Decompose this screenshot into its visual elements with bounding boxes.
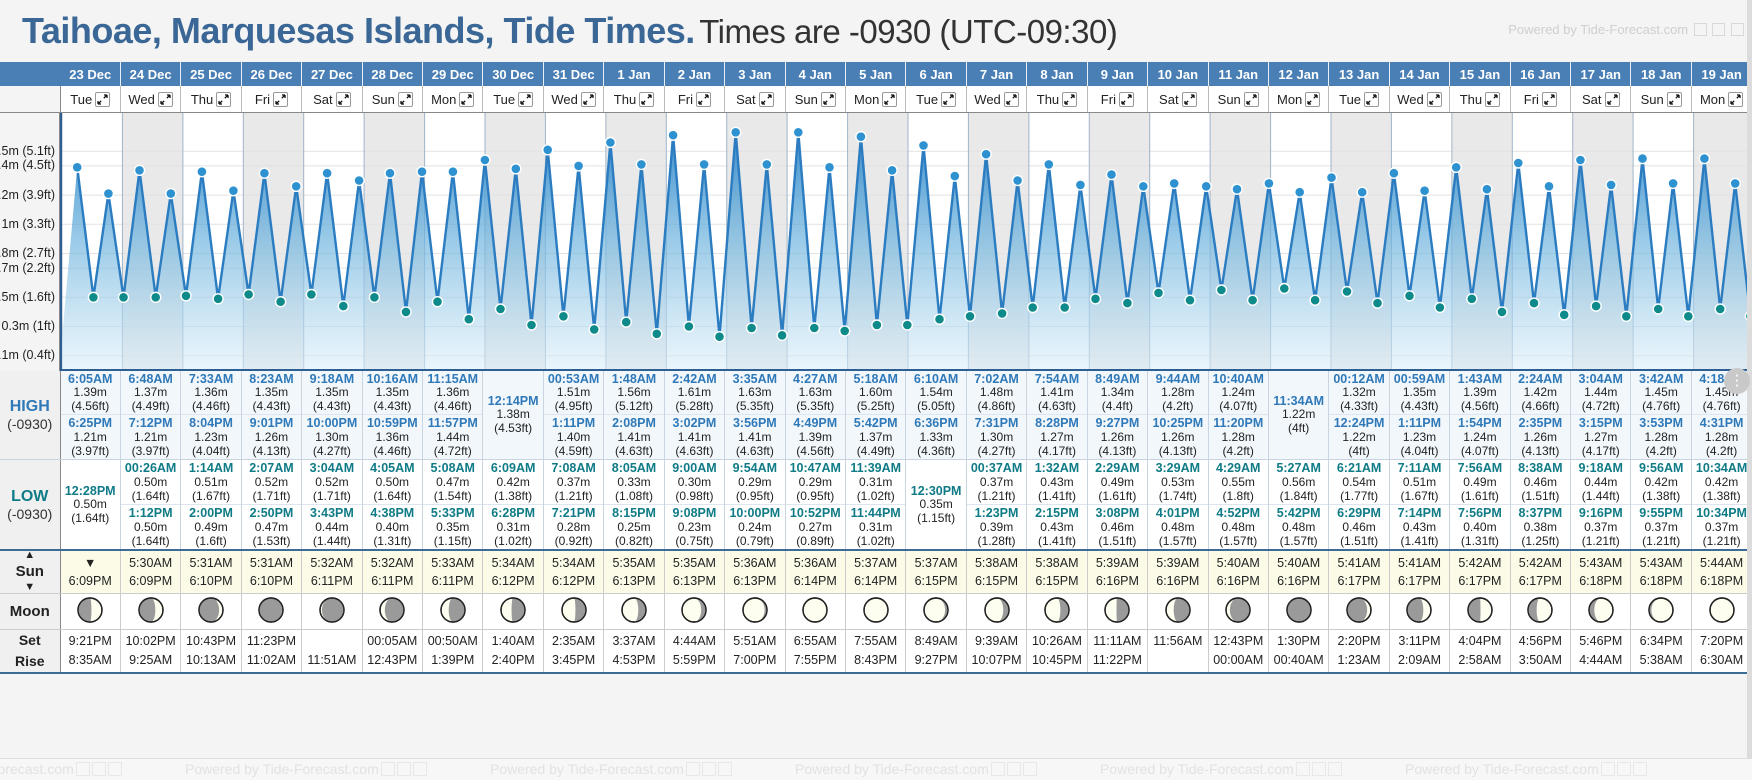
tide-height-m: 1.41m <box>604 431 663 445</box>
moon-phase-icon <box>620 613 648 627</box>
high-tide-point <box>1327 172 1337 182</box>
sunrise-time: 5:39AM <box>1148 554 1207 572</box>
expand-day-icon[interactable] <box>1004 92 1019 107</box>
day-name: Tue <box>493 92 515 107</box>
date-header-table: 23 Dec24 Dec25 Dec26 Dec27 Dec28 Dec29 D… <box>0 62 1752 113</box>
page-title-timezone: Times are -0930 (UTC-09:30) <box>699 13 1117 50</box>
tide-time: 9:56AM <box>1631 461 1690 475</box>
tide-height-ft: (1.21ft) <box>544 490 603 504</box>
low-tide-point <box>401 306 411 316</box>
tide-height-m: 1.51m <box>544 386 603 400</box>
tide-time: 00:59AM <box>1390 372 1449 386</box>
tide-event: 10:00PM1.30m(4.27ft) <box>302 414 361 459</box>
tide-height-ft: (4.07ft) <box>1209 400 1268 414</box>
expand-day-icon[interactable] <box>1305 92 1320 107</box>
tide-height-ft: (5.05ft) <box>906 400 965 414</box>
page-scrollbar[interactable] <box>1747 0 1752 780</box>
tide-event: 00:37AM0.37m(1.21ft) <box>967 460 1026 504</box>
tide-event: 5:42PM1.37m(4.49ft) <box>846 414 905 459</box>
tide-event: 8:15PM0.25m(0.82ft) <box>604 504 663 549</box>
footer-watermark-icon-3 <box>413 762 427 776</box>
high-tide-point <box>1295 187 1305 197</box>
expand-day-icon[interactable] <box>158 92 173 107</box>
expand-day-icon[interactable] <box>759 92 774 107</box>
moonset-time: 3:37AM <box>604 632 663 651</box>
tide-height-ft: (4.17ft) <box>1571 445 1630 459</box>
footer-watermark: Powered by Tide-Forecast.com <box>795 761 1037 777</box>
low-tide-cell: 6:21AM0.54m(1.77ft)6:29PM0.46m(1.51ft) <box>1329 460 1389 550</box>
tide-height-ft: (4.63ft) <box>604 445 663 459</box>
tide-height-ft: (1.51ft) <box>1511 490 1570 504</box>
tide-height-ft: (0.95ft) <box>725 490 784 504</box>
high-tide-point <box>1513 158 1523 168</box>
header-watermark: Powered by Tide-Forecast.com <box>1508 22 1744 37</box>
tide-event: 6:25PM1.21m(3.97ft) <box>61 414 120 459</box>
date-header-26-dec: 26 Dec <box>241 62 301 86</box>
tide-height-m: 1.44m <box>1571 386 1630 400</box>
moon-setrise-cell: 8:49AM9:27PM <box>906 629 966 673</box>
day-header-cell: Thu <box>1450 86 1510 112</box>
day-name: Tue <box>70 92 92 107</box>
moon-setrise-label: Set Rise <box>0 629 60 673</box>
high-tide-cell: 1:48AM1.56m(5.12ft)2:08PM1.41m(4.63ft) <box>604 371 664 460</box>
sun-cell: 5:30AM6:09PM <box>120 550 180 593</box>
moonrise-time: 00:00AM <box>1209 651 1268 670</box>
footer-watermark: Powered by Tide-Forecast.com <box>1405 761 1647 777</box>
sunrise-time: 5:32AM <box>363 554 422 572</box>
y-axis-tick: 0.5m (1.6ft) <box>0 290 55 304</box>
tide-height-ft: (4.2ft) <box>1209 445 1268 459</box>
tide-height-m: 1.36m <box>181 386 240 400</box>
moon-phase-icon <box>1526 613 1554 627</box>
tide-event: 7:11AM0.51m(1.67ft) <box>1390 460 1449 504</box>
day-name: Mon <box>431 92 456 107</box>
expand-day-icon[interactable] <box>1182 92 1197 107</box>
tide-event: 6:28PM0.31m(1.02ft) <box>483 504 542 549</box>
tide-event: 10:34AM0.42m(1.38ft) <box>1692 460 1751 504</box>
expand-day-icon[interactable] <box>273 92 288 107</box>
sunrise-time: 5:34AM <box>483 554 542 572</box>
tide-height-ft: (1.57ft) <box>1148 535 1207 549</box>
expand-day-icon[interactable] <box>1244 92 1259 107</box>
tide-time: 3:43PM <box>302 506 361 520</box>
day-name: Tue <box>916 92 938 107</box>
sunset-time: 6:17PM <box>1450 572 1509 590</box>
tide-time: 1:43AM <box>1450 372 1509 386</box>
moon-phase-cell <box>302 593 362 629</box>
tide-event: 4:29AM0.55m(1.8ft) <box>1209 460 1268 504</box>
tide-time: 7:12PM <box>121 416 180 430</box>
low-tide-cell: 11:39AM0.31m(1.02ft)11:44PM0.31m(1.02ft) <box>845 460 905 550</box>
tide-height-m: 1.21m <box>121 431 180 445</box>
sunrise-time: 5:31AM <box>242 554 301 572</box>
tide-event: 8:38AM0.46m(1.51ft) <box>1511 460 1570 504</box>
tide-time: 4:27AM <box>786 372 845 386</box>
moonrise-time: 10:07PM <box>967 651 1026 670</box>
expand-day-icon[interactable] <box>1364 92 1379 107</box>
tide-height-ft: (4.4ft) <box>1088 400 1147 414</box>
sunset-time: 6:12PM <box>483 572 542 590</box>
y-axis-tick: 0.1m (0.4ft) <box>0 348 55 362</box>
low-tide-point <box>1216 285 1226 295</box>
tide-time: 2:42AM <box>665 372 724 386</box>
tide-event: 9:18AM1.35m(4.43ft) <box>302 371 361 415</box>
tide-height-m: 1.28m <box>1631 431 1690 445</box>
high-tide-point <box>950 171 960 181</box>
high-tide-point <box>1482 184 1492 194</box>
tide-event: 1:23PM0.39m(1.28ft) <box>967 504 1026 549</box>
tide-height-ft: (1.61ft) <box>1450 490 1509 504</box>
tide-height-m: 0.35m <box>423 521 482 535</box>
day-name: Sat <box>313 92 333 107</box>
sun-cell: 5:33AM6:11PM <box>423 550 483 593</box>
tide-event: 12:24PM1.22m(4ft) <box>1329 414 1388 459</box>
moon-phase-icon <box>76 613 104 627</box>
low-tide-cell: 00:37AM0.37m(1.21ft)1:23PM0.39m(1.28ft) <box>966 460 1026 550</box>
moon-phase-cell <box>604 593 664 629</box>
tide-height-m: 0.52m <box>242 476 301 490</box>
low-tide-point <box>1060 302 1070 312</box>
tide-event: 6:36PM1.33m(4.36ft) <box>906 414 965 459</box>
tide-height-ft: (5.12ft) <box>604 400 663 414</box>
day-header-cell: Mon <box>1268 86 1328 112</box>
moonrise-time <box>1148 651 1207 670</box>
day-header-cell: Thu <box>181 86 241 112</box>
sun-marker-icon: ▼ <box>61 554 120 572</box>
tide-event: 8:28PM1.27m(4.17ft) <box>1027 414 1086 459</box>
tide-time: 1:11PM <box>544 416 603 430</box>
tide-height-ft: (3.97ft) <box>61 445 120 459</box>
tide-event: 12:28PM0.50m(1.64ft) <box>61 483 120 527</box>
tide-time: 5:08AM <box>423 461 482 475</box>
tide-height-m: 1.34m <box>1088 386 1147 400</box>
sunset-time: 6:18PM <box>1631 572 1690 590</box>
moonrise-time: 00:40AM <box>1269 651 1328 670</box>
sunset-time: 6:09PM <box>61 572 120 590</box>
moon-setrise-cell: 11:51AM <box>302 629 362 673</box>
tide-height-m: 1.41m <box>725 431 784 445</box>
tide-time: 11:15AM <box>423 372 482 386</box>
high-tide-point <box>636 159 646 169</box>
tide-time: 3:02PM <box>665 416 724 430</box>
moon-setrise-cell: 5:51AM7:00PM <box>725 629 785 673</box>
tide-event: 6:05AM1.39m(4.56ft) <box>61 371 120 415</box>
moon-phase-icon <box>378 613 406 627</box>
moonset-time: 8:49AM <box>906 632 965 651</box>
tide-height-m: 1.30m <box>967 431 1026 445</box>
tide-height-ft: (1.31ft) <box>1450 535 1509 549</box>
tide-height-m: 0.31m <box>483 521 542 535</box>
sunrise-time: 5:31AM <box>181 554 240 572</box>
high-tide-point <box>1075 179 1085 189</box>
expand-day-icon[interactable] <box>1605 92 1620 107</box>
sunset-time: 6:11PM <box>423 572 482 590</box>
y-axis-tick: 0.8m (2.7ft) <box>0 246 55 260</box>
tide-event: 9:16PM0.37m(1.21ft) <box>1571 504 1630 549</box>
footer-watermark-icon-1 <box>76 762 90 776</box>
tide-height-ft: (1.08ft) <box>604 490 663 504</box>
tide-event: 9:27PM1.26m(4.13ft) <box>1088 414 1147 459</box>
tide-height-m: 0.43m <box>1390 521 1449 535</box>
tide-height-ft: (1.28ft) <box>967 535 1026 549</box>
day-header-cell: Sun <box>362 86 422 112</box>
tide-event: 7:02AM1.48m(4.86ft) <box>967 371 1026 415</box>
low-tide-point <box>1591 301 1601 311</box>
moonrise-time: 11:51AM <box>302 651 361 670</box>
tide-height-ft: (4.2ft) <box>1692 445 1751 459</box>
day-name: Wed <box>128 92 155 107</box>
moon-phase-cell <box>1027 593 1087 629</box>
day-name: Fri <box>255 92 270 107</box>
high-tide-cell: 00:12AM1.32m(4.33ft)12:24PM1.22m(4ft) <box>1329 371 1389 460</box>
high-tide-cell: 8:23AM1.35m(4.43ft)9:01PM1.26m(4.13ft) <box>241 371 301 460</box>
low-tide-cell: 10:47AM0.29m(0.95ft)10:52PM0.27m(0.89ft) <box>785 460 845 550</box>
tide-height-ft: (4.76ft) <box>1692 400 1751 414</box>
tide-height-ft: (1.84ft) <box>1269 490 1328 504</box>
tide-time: 7:33AM <box>181 372 240 386</box>
day-name: Wed <box>551 92 578 107</box>
day-name: Thu <box>191 92 213 107</box>
tide-time: 10:47AM <box>786 461 845 475</box>
sunrise-time: 5:38AM <box>967 554 1026 572</box>
tide-event: 7:54AM1.41m(4.63ft) <box>1027 371 1086 415</box>
day-name: Sat <box>1159 92 1179 107</box>
tide-height-ft: (1.67ft) <box>181 490 240 504</box>
expand-day-icon[interactable] <box>95 92 110 107</box>
expand-day-icon[interactable] <box>1485 92 1500 107</box>
tide-event: 00:12AM1.32m(4.33ft) <box>1329 371 1388 415</box>
tide-height-ft: (4.07ft) <box>1450 445 1509 459</box>
high-tide-point <box>793 127 803 137</box>
sun-cell: 5:41AM6:17PM <box>1329 550 1389 593</box>
moonset-time: 5:51AM <box>725 632 784 651</box>
y-axis-tick: 1.2m (3.9ft) <box>0 188 55 202</box>
moonrise-time: 3:50AM <box>1511 651 1570 670</box>
moonset-time: 5:46PM <box>1571 632 1630 651</box>
moon-label: Moon <box>0 593 60 629</box>
tide-event: 3:29AM0.53m(1.74ft) <box>1148 460 1207 504</box>
expand-day-icon[interactable] <box>1667 92 1682 107</box>
tide-height-m: 0.38m <box>1511 521 1570 535</box>
footer-watermark-icon-3 <box>1328 762 1342 776</box>
sunrise-time: 5:30AM <box>121 554 180 572</box>
expand-day-icon[interactable] <box>821 92 836 107</box>
tide-height-ft: (4.63ft) <box>1027 400 1086 414</box>
moonrise-time: 10:45PM <box>1027 651 1086 670</box>
expand-day-icon[interactable] <box>1119 92 1134 107</box>
sunset-time: 6:16PM <box>1209 572 1268 590</box>
moon-setrise-cell: 11:23PM11:02AM <box>241 629 301 673</box>
sunset-time: 6:16PM <box>1269 572 1328 590</box>
sun-cell: 5:31AM6:10PM <box>181 550 241 593</box>
moon-phase-icon <box>922 613 950 627</box>
moon-setrise-cell: 10:26AM10:45PM <box>1027 629 1087 673</box>
low-tide-point <box>213 293 223 303</box>
moon-phase-cell <box>906 593 966 629</box>
low-tide-cell: 9:00AM0.30m(0.98ft)9:08PM0.23m(0.75ft) <box>664 460 724 550</box>
day-header-cell: Wed <box>543 86 603 112</box>
expand-day-icon[interactable] <box>941 92 956 107</box>
low-tide-point <box>684 321 694 331</box>
moonrise-time: 8:35AM <box>61 651 120 670</box>
high-tide-point <box>668 130 678 140</box>
expand-day-icon[interactable] <box>1728 92 1743 107</box>
tide-time: 8:15PM <box>604 506 663 520</box>
expand-day-icon[interactable] <box>1542 92 1557 107</box>
tide-height-ft: (1.57ft) <box>1269 535 1328 549</box>
moon-phase-icon <box>1587 613 1615 627</box>
low-tide-point <box>433 296 443 306</box>
high-tide-point <box>1013 175 1023 185</box>
tide-time: 8:23AM <box>242 372 301 386</box>
tide-height-ft: (1.02ft) <box>846 535 905 549</box>
low-tide-point <box>1091 293 1101 303</box>
high-tide-point <box>825 162 835 172</box>
expand-day-icon[interactable] <box>1427 92 1442 107</box>
tide-height-m: 1.37m <box>846 431 905 445</box>
tide-event: 2:29AM0.49m(1.61ft) <box>1088 460 1147 504</box>
tide-height-ft: (5.25ft) <box>846 400 905 414</box>
moon-phase-cell <box>241 593 301 629</box>
sun-cell: 5:38AM6:15PM <box>966 550 1026 593</box>
y-axis-tick: 1.5m (5.1ft) <box>0 144 55 158</box>
tide-height-m: 1.41m <box>665 431 724 445</box>
sun-down-arrow-icon: ▼ <box>0 583 60 593</box>
tide-height-m: 0.44m <box>1571 476 1630 490</box>
high-tide-point <box>1044 159 1054 169</box>
day-name: Sat <box>1582 92 1602 107</box>
expand-day-icon[interactable] <box>1062 92 1077 107</box>
tide-time: 9:00AM <box>665 461 724 475</box>
sunrise-time: 5:32AM <box>302 554 361 572</box>
tide-height-ft: (4.43ft) <box>242 400 301 414</box>
expand-day-icon[interactable] <box>459 92 474 107</box>
low-tide-cell: 10:34AM0.42m(1.38ft)10:34PM0.37m(1.21ft) <box>1691 460 1751 550</box>
sun-cell: 5:44AM6:18PM <box>1691 550 1751 593</box>
tide-time: 00:12AM <box>1329 372 1388 386</box>
tide-event: 7:21PM0.28m(0.92ft) <box>544 504 603 549</box>
moon-setrise-cell: 10:02PM9:25AM <box>120 629 180 673</box>
high-tide-point <box>228 185 238 195</box>
high-tide-cell: 6:05AM1.39m(4.56ft)6:25PM1.21m(3.97ft) <box>60 371 120 460</box>
tide-event: 2:50PM0.47m(1.53ft) <box>242 504 301 549</box>
expand-day-icon[interactable] <box>696 92 711 107</box>
moon-phase-cell <box>725 593 785 629</box>
high-tide-point <box>166 188 176 198</box>
tide-time: 3:53PM <box>1631 416 1690 430</box>
sunset-time: 6:10PM <box>181 572 240 590</box>
sunrise-time: 5:43AM <box>1631 554 1690 572</box>
moon-phase-icon <box>1708 613 1736 627</box>
date-header-31-dec: 31 Dec <box>543 62 603 86</box>
footer-watermark-icon-1 <box>686 762 700 776</box>
tide-table: HIGH (-0930) 6:05AM1.39m(4.56ft)6:25PM1.… <box>0 371 1752 674</box>
tide-event: 4:49PM1.39m(4.56ft) <box>786 414 845 459</box>
tide-time: 8:04PM <box>181 416 240 430</box>
tide-time: 9:54AM <box>725 461 784 475</box>
low-tide-point <box>369 292 379 302</box>
expand-day-icon[interactable] <box>336 92 351 107</box>
tide-height-ft: (0.98ft) <box>665 490 724 504</box>
tide-event: 8:37PM0.38m(1.25ft) <box>1511 504 1570 549</box>
day-name: Thu <box>1460 92 1482 107</box>
low-tide-cell: 00:26AM0.50m(1.64ft)1:12PM0.50m(1.64ft) <box>120 460 180 550</box>
tide-event: 1:32AM0.43m(1.41ft) <box>1027 460 1086 504</box>
tide-time: 00:37AM <box>967 461 1026 475</box>
tide-time: 10:16AM <box>363 372 422 386</box>
date-header-row: 23 Dec24 Dec25 Dec26 Dec27 Dec28 Dec29 D… <box>0 62 1752 86</box>
moon-phase-cell <box>1268 593 1328 629</box>
tide-event: 4:01PM0.48m(1.57ft) <box>1148 504 1207 549</box>
moonrise-time: 9:27PM <box>906 651 965 670</box>
tide-height-m: 0.23m <box>665 521 724 535</box>
tide-event: 10:40AM1.24m(4.07ft) <box>1209 371 1268 415</box>
date-header-23-dec: 23 Dec <box>60 62 120 86</box>
high-tide-point <box>1638 153 1648 163</box>
footer-watermark: Powered by Tide-Forecast.com <box>490 761 732 777</box>
tide-height-ft: (4.36ft) <box>906 445 965 459</box>
tide-height-ft: (4.04ft) <box>1390 445 1449 459</box>
moon-phase-icon <box>499 613 527 627</box>
low-tide-point <box>1405 290 1415 300</box>
high-tide-point <box>135 165 145 175</box>
expand-day-icon[interactable] <box>518 92 533 107</box>
tide-event: 3:53PM1.28m(4.2ft) <box>1631 414 1690 459</box>
sunrise-time: 5:39AM <box>1088 554 1147 572</box>
low-tide-point <box>1154 287 1164 297</box>
tide-height-m: 1.30m <box>302 431 361 445</box>
day-name: Fri <box>1101 92 1116 107</box>
moonset-time: 00:50AM <box>423 632 482 651</box>
day-header-cell: Sun <box>1208 86 1268 112</box>
tide-height-m: 0.54m <box>1329 476 1388 490</box>
y-axis-tick: 0.3m (1ft) <box>2 319 56 333</box>
moonrise-time: 1:39PM <box>423 651 482 670</box>
tide-height-m: 1.48m <box>967 386 1026 400</box>
moon-setrise-cell: 7:55AM8:43PM <box>845 629 905 673</box>
low-tide-cell: 9:56AM0.42m(1.38ft)9:55PM0.37m(1.21ft) <box>1631 460 1691 550</box>
day-name: Sat <box>736 92 756 107</box>
tide-height-ft: (4.13ft) <box>242 445 301 459</box>
expand-day-icon[interactable] <box>398 92 413 107</box>
tide-time: 10:34AM <box>1692 461 1751 475</box>
low-tide-point <box>1185 295 1195 305</box>
tide-height-ft: (1.38ft) <box>1631 490 1690 504</box>
expand-day-icon[interactable] <box>581 92 596 107</box>
tide-height-ft: (1.44ft) <box>1571 490 1630 504</box>
footer-watermark-icon-3 <box>108 762 122 776</box>
chart-scroll-handle[interactable]: ⋮ <box>1724 368 1750 394</box>
tide-time: 6:28PM <box>483 506 542 520</box>
tide-height-m: 0.50m <box>121 476 180 490</box>
moon-phase-cell <box>785 593 845 629</box>
sun-cell: 5:34AM6:12PM <box>543 550 603 593</box>
tide-height-ft: (4.13ft) <box>1088 445 1147 459</box>
footer-watermark-icon-3 <box>1633 762 1647 776</box>
high-tide-point <box>322 168 332 178</box>
expand-day-icon[interactable] <box>882 92 897 107</box>
tide-height-m: 0.46m <box>1511 476 1570 490</box>
tide-height-m: 1.23m <box>1390 431 1449 445</box>
tide-height-ft: (1.71ft) <box>302 490 361 504</box>
tide-height-ft: (0.92ft) <box>544 535 603 549</box>
expand-day-icon[interactable] <box>639 92 654 107</box>
sunset-time: 6:14PM <box>846 572 905 590</box>
sunset-time: 6:16PM <box>1088 572 1147 590</box>
tide-height-ft: (4.17ft) <box>1027 445 1086 459</box>
expand-day-icon[interactable] <box>216 92 231 107</box>
moonrise-time: 1:23AM <box>1329 651 1388 670</box>
